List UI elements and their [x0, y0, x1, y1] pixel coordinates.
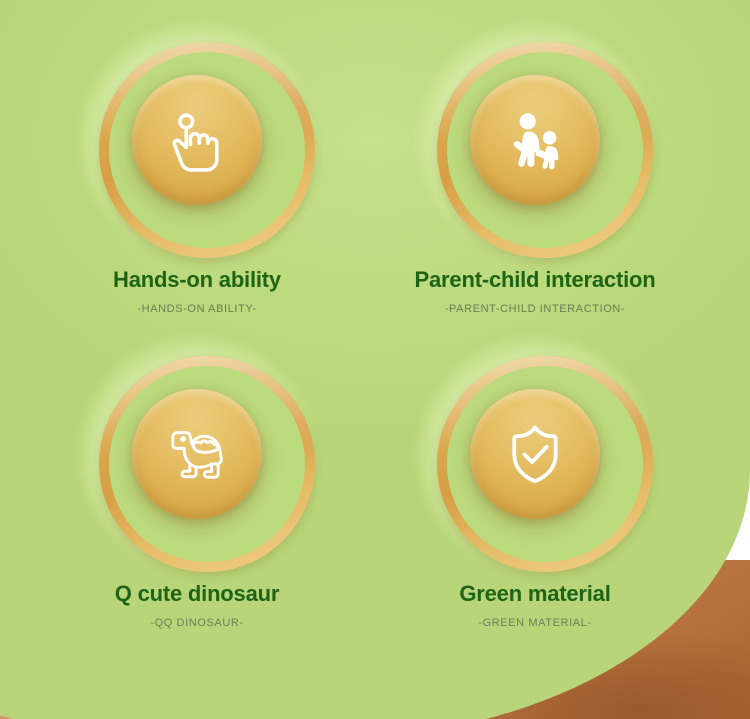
feature-badge[interactable]: [413, 332, 657, 576]
badge-disc: [132, 75, 262, 205]
parent-child-icon: [499, 104, 571, 176]
feature-grid: Hands-on ability -HANDS-ON ABILITY-: [0, 0, 750, 719]
hand-tap-icon: [161, 104, 233, 176]
feature-badge[interactable]: [413, 18, 657, 262]
badge-disc: [470, 389, 600, 519]
feature-card-q-cute-dinosaur[interactable]: Q cute dinosaur -QQ DINOSAUR-: [27, 332, 367, 629]
feature-subtitle: -PARENT-CHILD INTERACTION-: [365, 303, 705, 315]
feature-subtitle: -GREEN MATERIAL-: [365, 617, 705, 629]
feature-title: Q cute dinosaur: [27, 582, 367, 606]
feature-card-hands-on-ability[interactable]: Hands-on ability -HANDS-ON ABILITY-: [27, 18, 367, 315]
feature-card-parent-child-interaction[interactable]: Parent-child interaction -PARENT-CHILD I…: [365, 18, 705, 315]
dinosaur-icon: [161, 418, 233, 490]
shield-check-icon: [499, 418, 571, 490]
feature-card-green-material[interactable]: Green material -GREEN MATERIAL-: [365, 332, 705, 629]
feature-title: Green material: [365, 582, 705, 606]
feature-highlights-screenshot: Hands-on ability -HANDS-ON ABILITY-: [0, 0, 750, 719]
feature-subtitle: -HANDS-ON ABILITY-: [27, 303, 367, 315]
feature-subtitle: -QQ DINOSAUR-: [27, 617, 367, 629]
feature-badge[interactable]: [75, 332, 319, 576]
feature-title: Hands-on ability: [27, 268, 367, 292]
badge-disc: [470, 75, 600, 205]
feature-badge[interactable]: [75, 18, 319, 262]
feature-title: Parent-child interaction: [365, 268, 705, 292]
badge-disc: [132, 389, 262, 519]
